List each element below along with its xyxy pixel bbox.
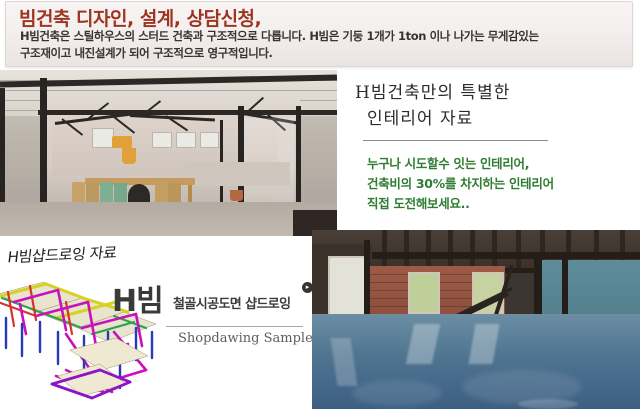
photo-window xyxy=(176,132,196,148)
photo-window xyxy=(152,132,172,148)
photo-header-beam xyxy=(38,110,337,115)
play-badge-icon[interactable]: ▸ xyxy=(302,282,312,293)
section-heading: H빔건축만의 특별한 인테리어 자료 xyxy=(355,80,630,132)
sample-divider xyxy=(166,326,303,327)
page-title: 빔건축 디자인, 설계, 상담신청, xyxy=(19,4,261,31)
section-body: 누구나 시도할수 잇는 인테리어, 건축비의 30%를 차지하는 인테리어 직접… xyxy=(367,154,637,214)
handwritten-title: H빔샵드로잉 자료 xyxy=(6,242,117,268)
section-divider xyxy=(363,140,548,141)
section-body-line-3: 직접 도전해보세요.. xyxy=(367,194,637,214)
photo-chair xyxy=(155,182,168,204)
photo-plant-pot xyxy=(230,190,243,201)
section-heading-line-2: 인테리어 자료 xyxy=(355,106,630,132)
blue-epoxy-floor-interior-photo xyxy=(312,230,640,409)
sample-caption: Shopdawing Sample xyxy=(178,331,312,346)
photo-kitchen-island xyxy=(185,162,290,186)
steel-frame-house-interior-photo xyxy=(0,70,337,236)
header-description-line-1: H빔건축은 스틸하우스의 스터드 건축과 구조적으로 다릅니다. H빔은 기둥 … xyxy=(20,28,625,45)
photo-chair xyxy=(72,182,85,204)
photo-pendant-lamp xyxy=(112,136,132,148)
photo-window xyxy=(92,128,114,148)
header-description: H빔건축은 스틸하우스의 스터드 건축과 구조적으로 다릅니다. H빔은 기둥 … xyxy=(20,28,625,62)
section-heading-line-1: H빔건축만의 특별한 xyxy=(355,83,510,103)
photo-chair xyxy=(100,182,113,204)
photo-window xyxy=(328,256,366,322)
section-body-line-1: 누구나 시도할수 잇는 인테리어, xyxy=(367,154,637,174)
photo-window xyxy=(200,132,219,148)
header-banner: 빔건축 디자인, 설계, 상담신청, H빔건축은 스틸하우스의 스터드 건축과 … xyxy=(5,1,633,67)
photo-window xyxy=(408,272,440,314)
section-body-line-2: 건축비의 30%를 차지하는 인테리어 xyxy=(367,174,637,194)
header-description-line-2: 구조재이고 내진설계가 되어 구조적으로 영구적입니다. xyxy=(20,45,625,62)
hbeam-label: H빔 xyxy=(112,276,163,320)
hbeam-subtitle: 철골시공도면 샵드로잉 xyxy=(173,293,291,312)
interior-materials-section: H빔건축만의 특별한 인테리어 자료 누구나 시도할수 잇는 인테리어, 건축비… xyxy=(345,72,637,232)
photo-foreground-paving xyxy=(0,202,337,236)
shop-drawing-panel: H빔샵드로잉 자료 xyxy=(0,236,312,409)
page-root: 빔건축 디자인, 설계, 상담신청, H빔건축은 스틸하우스의 스터드 건축과 … xyxy=(0,0,640,409)
photo-pendant-lamp xyxy=(122,148,136,164)
